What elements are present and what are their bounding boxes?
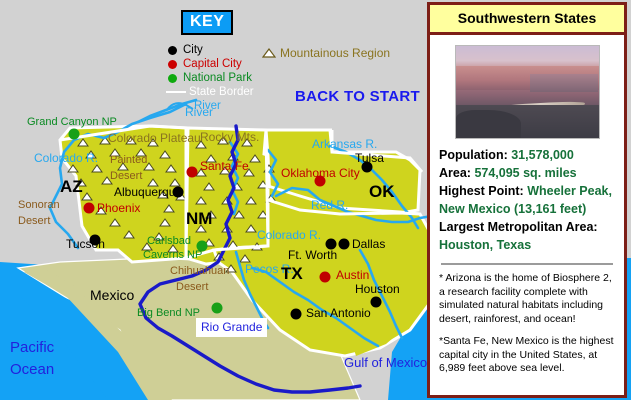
city-dot-dallas[interactable] <box>339 239 350 250</box>
map-label-colorado-river-tx: Colorado R. <box>257 229 321 241</box>
park-dot-big-bend[interactable] <box>212 303 223 314</box>
fact-population-label: Population: <box>439 148 508 162</box>
note-biosphere: * Arizona is the home of Biosphere 2, a … <box>439 272 615 326</box>
fact-highest-point: Highest Point: Wheeler Peak, <box>439 183 615 200</box>
info-panel: Southwestern States Population: 31,578,0… <box>427 2 627 398</box>
map-label-painted-desert: Desert <box>110 171 142 182</box>
legend-label-river: River <box>194 100 221 112</box>
map-label-gulf-of-mexico: Gulf of Mexico <box>344 356 427 369</box>
map-label-ocean: Ocean <box>10 362 54 377</box>
map-label-painted: Painted <box>110 155 147 166</box>
map-label-colorado-river-az: Colorado R. <box>34 152 98 164</box>
park-dot-grand-canyon[interactable] <box>69 129 80 140</box>
map-label-arkansas-river: Arkansas R. <box>312 138 377 150</box>
capital-city-dot-icon <box>168 60 177 69</box>
state-border-line-icon <box>166 91 186 93</box>
map-label-colorado-plateau: Colorado Plateau <box>108 132 201 144</box>
legend-item-mountainous-region[interactable]: Mountainous Region <box>262 46 390 60</box>
map-label-caverns-np: Caverns NP <box>143 250 202 261</box>
rio-grande-label-box: Rio Grande <box>196 318 267 337</box>
capital-dot-phoenix[interactable] <box>84 203 95 214</box>
map-label-rio-grande: Rio Grande <box>196 319 267 335</box>
map-label-state-az: AZ <box>60 178 83 195</box>
fact-area: Area: 574,095 sq. miles <box>439 165 615 182</box>
fact-population: Population: 31,578,000 <box>439 147 615 164</box>
map-label-phoenix: Phoenix <box>97 202 140 214</box>
map-label-carlsbad: Carlsbad <box>147 236 191 247</box>
fact-highest-point-label: Highest Point: <box>439 184 524 198</box>
fact-highest-point-value-line2: New Mexico (13,161 feet) <box>439 201 615 218</box>
fact-population-value: 31,578,000 <box>511 148 574 162</box>
legend-item-city[interactable]: City <box>168 44 203 57</box>
map-label-tucson: Tucson <box>66 238 105 250</box>
map-label-san-antonio-1: San Antonio <box>306 307 371 319</box>
panel-title: Southwestern States <box>430 5 624 35</box>
map-label-chihuahuan: Chihuahuan <box>170 266 229 277</box>
city-dot-san-antonio[interactable] <box>291 309 302 320</box>
map-label-rocky-mts: Rocky Mts. <box>200 131 259 143</box>
fact-highest-point-value: Wheeler Peak, <box>527 184 612 198</box>
map-label-red-river: Red R. <box>311 199 348 211</box>
map-label-santa-fe: Santa Fe <box>200 160 249 172</box>
legend-label-state-border: State Border <box>189 86 254 98</box>
capital-dot-santa-fe[interactable] <box>187 167 198 178</box>
map-label-state-ok: OK <box>369 183 395 200</box>
city-dot-icon <box>168 46 177 55</box>
slide-canvas: Grand Canyon NP Colorado Plateau Rocky M… <box>0 0 631 400</box>
fact-largest-metro-value: Houston, Texas <box>439 237 615 254</box>
map-label-grand-canyon-np: Grand Canyon NP <box>27 117 117 128</box>
legend-item-river[interactable]: River <box>166 100 221 113</box>
legend-item-state-border[interactable]: State Border <box>166 86 254 99</box>
panel-divider <box>441 263 613 265</box>
landscape-photo <box>455 45 600 139</box>
legend-label-city: City <box>183 44 203 56</box>
fact-largest-metro-label: Largest Metropolitan Area: <box>439 219 615 236</box>
national-park-dot-icon <box>168 74 177 83</box>
key-title-label: KEY <box>190 13 224 30</box>
legend-label-capital-city: Capital City <box>183 58 242 70</box>
river-line-icon <box>166 100 194 112</box>
map-label-state-nm: NM <box>186 210 212 227</box>
photo-foreground-brush <box>456 110 522 138</box>
capital-dot-austin[interactable] <box>320 272 331 283</box>
back-to-start-link[interactable]: BACK TO START <box>295 88 420 105</box>
panel-body: Population: 31,578,000 Area: 574,095 sq.… <box>430 35 624 376</box>
map-label-sonoran-desert: Desert <box>18 216 50 227</box>
map-label-austin: Austin <box>336 269 369 281</box>
map-label-pacific: Pacific <box>10 340 54 355</box>
note-santa-fe: *Santa Fe, New Mexico is the highest cap… <box>439 335 615 376</box>
city-dot-houston[interactable] <box>371 297 382 308</box>
photo-cliff-far <box>530 74 599 92</box>
legend-label-mountainous-region: Mountainous Region <box>280 46 390 60</box>
map-label-sonoran: Sonoran <box>18 200 60 211</box>
map-label-state-tx: TX <box>281 265 303 282</box>
map-label-big-bend-np: Big Bend NP <box>137 308 200 319</box>
triangle-icon <box>262 47 276 58</box>
map-label-ft-worth: Ft. Worth <box>288 249 337 261</box>
key-title-box: KEY <box>181 10 233 35</box>
legend-label-national-park: National Park <box>183 72 252 84</box>
map-label-mexico: Mexico <box>90 288 134 302</box>
legend-item-national-park[interactable]: National Park <box>168 72 252 85</box>
map-label-houston: Houston <box>355 283 400 295</box>
map-label-chihuahuan-desert: Desert <box>176 282 208 293</box>
map-label-tulsa: Tulsa <box>355 152 384 164</box>
fact-area-label: Area: <box>439 166 471 180</box>
map-label-albuquerque: Albuquerque <box>114 186 182 198</box>
fact-area-value: 574,095 sq. miles <box>474 166 576 180</box>
map-label-dallas: Dallas <box>352 238 385 250</box>
map-label-oklahoma-city: Oklahoma City <box>281 167 360 179</box>
legend-item-capital-city[interactable]: Capital City <box>168 58 242 71</box>
